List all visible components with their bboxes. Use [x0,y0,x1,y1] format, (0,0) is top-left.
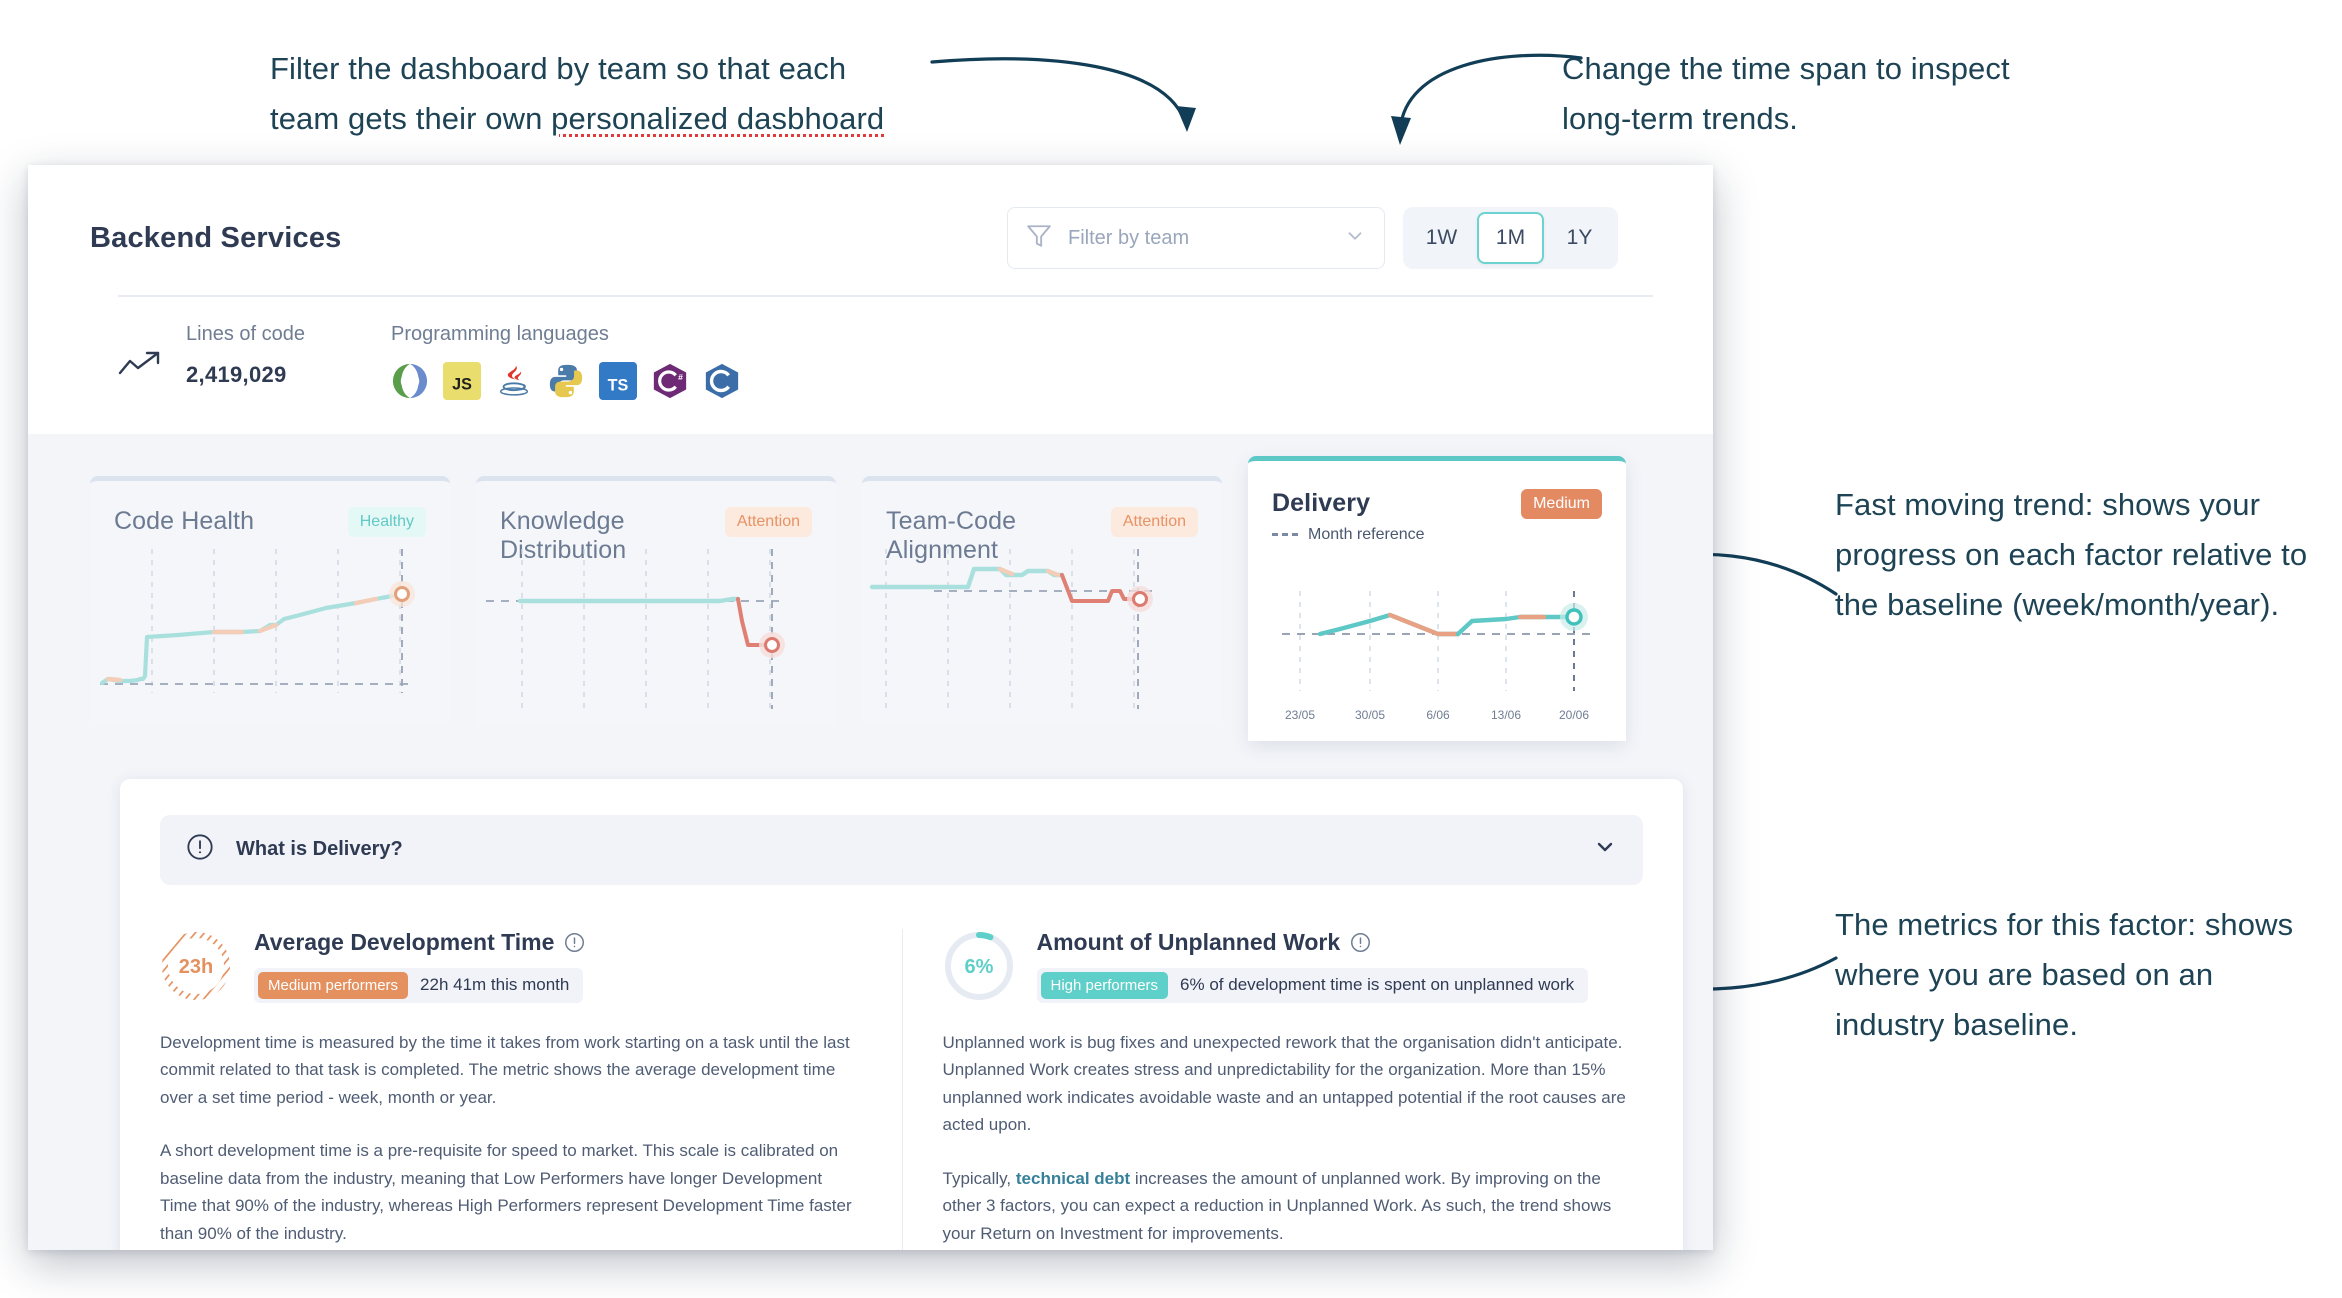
header-controls: Filter by team 1W 1M 1Y [1007,207,1653,269]
typescript-icon: TS [599,362,637,400]
arrow-to-filter-icon [930,50,1220,140]
metric-title: Average Development Time [254,929,554,956]
stat-programming-languages: Programming languages JS [391,323,741,400]
what-is-delivery-label: What is Delivery? [236,838,1571,861]
app-header: Backend Services Filter by team 1W 1 [28,165,1713,434]
app-body: Code Health Healthy [28,434,1713,1251]
chart-legend: Month reference [1272,526,1425,544]
timespan-option-1y[interactable]: 1Y [1546,212,1613,264]
lines-of-code-value: 2,419,029 [186,362,305,388]
csharp-icon: # [651,362,689,400]
metric-paragraph: A short development time is a pre-requis… [160,1137,862,1247]
performance-pill: High performers [1041,972,1169,999]
filter-icon [1026,223,1052,254]
info-circle-icon [186,833,214,866]
metric-summary-text: 6% of development time is spent on unpla… [1180,975,1574,995]
c-icon [703,362,741,400]
metric-summary-text: 22h 41m this month [420,975,569,995]
paragraph-pre-text: Typically, [943,1169,1016,1188]
x-tick-label: 6/06 [1426,708,1450,722]
metric-summary: Medium performers 22h 41m this month [254,968,583,1003]
annotation-trend: Fast moving trend: shows your progress o… [1835,480,2315,630]
status-badge: Attention [1111,507,1198,537]
svg-text:JS: JS [452,375,472,393]
stat-lines-of-code: Lines of code 2,419,029 [186,323,305,388]
filter-by-team-select[interactable]: Filter by team [1007,207,1385,269]
metric-paragraph-with-link: Typically, technical debt increases the … [943,1165,1644,1248]
x-tick-label: 20/06 [1559,708,1589,722]
unplanned-work-ring: 6% [943,930,1015,1002]
ring-value: 23h [179,956,213,978]
metric-paragraph: Development time is measured by the time… [160,1029,862,1112]
factor-title: Delivery [1272,489,1425,518]
factor-card-delivery[interactable]: Delivery Month reference Medium [1248,456,1626,741]
performance-pill: Medium performers [258,972,408,999]
x-tick-label: 23/05 [1285,708,1315,722]
status-badge: Medium [1521,489,1602,519]
x-tick-label: 30/05 [1355,708,1385,722]
filter-placeholder: Filter by team [1068,227,1328,250]
factor-sparkline-chart [476,541,836,726]
info-circle-icon[interactable] [564,932,585,953]
stats-row: Lines of code 2,419,029 Programming lang… [28,297,1713,434]
factor-title: Code Health [114,507,254,536]
factor-cards-strip: Code Health Healthy [28,434,1713,741]
ring-value: 6% [964,956,993,978]
language-icon-list: JS [391,362,741,400]
metric-title-row: Amount of Unplanned Work [1037,929,1589,956]
metric-amount-of-unplanned-work: 6% Amount of Unplanned Work [902,929,1644,1251]
page-title: Backend Services [90,222,341,255]
status-badge: Attention [725,507,812,537]
x-tick-label: 13/06 [1491,708,1521,722]
info-circle-icon[interactable] [1350,932,1371,953]
timespan-segmented-control[interactable]: 1W 1M 1Y [1403,207,1618,269]
clojure-icon [391,362,429,400]
metric-summary: High performers 6% of development time i… [1037,968,1589,1003]
python-icon [547,362,585,400]
trend-up-icon [118,349,164,384]
factor-sparkline-chart [862,541,1222,726]
arrow-to-timespan-icon [1385,50,1585,160]
java-icon [495,362,533,400]
timespan-option-1w[interactable]: 1W [1408,212,1475,264]
factor-card-knowledge-distribution[interactable]: Knowledge Distribution Attention [476,476,836,726]
annotation-filter: Filter the dashboard by team so that eac… [270,44,930,144]
svg-text:#: # [678,372,683,382]
annotation-filter-misspelled: personalized dasbhoard [551,101,884,136]
legend-dash-icon [1272,533,1298,536]
metric-title-row: Average Development Time [254,929,585,956]
javascript-icon: JS [443,362,481,400]
chevron-down-icon[interactable] [1344,225,1366,252]
factor-card-code-health[interactable]: Code Health Healthy [90,476,450,726]
chevron-down-icon[interactable] [1593,835,1617,864]
metric-average-development-time: 23h Average Development Time [160,929,902,1251]
metrics-grid: 23h Average Development Time [160,929,1643,1251]
what-is-delivery-accordion[interactable]: What is Delivery? [160,815,1643,885]
delivery-sparkline-chart: 23/05 30/05 6/06 13/06 20/06 [1248,591,1626,741]
development-time-ring: 23h [160,930,232,1002]
svg-text:TS: TS [608,376,629,394]
legend-label: Month reference [1308,526,1425,544]
annotation-timespan: Change the time span to inspect long-ter… [1562,44,2082,144]
lines-of-code-label: Lines of code [186,323,305,346]
annotation-metrics: The metrics for this factor: shows where… [1835,900,2315,1050]
programming-languages-label: Programming languages [391,323,741,346]
app-window: Backend Services Filter by team 1W 1 [28,165,1713,1250]
technical-debt-link[interactable]: technical debt [1016,1169,1130,1188]
status-badge: Healthy [348,507,426,537]
factor-sparkline-chart [90,541,450,726]
timespan-option-1m[interactable]: 1M [1477,212,1544,264]
factor-detail-panel: What is Delivery? [120,779,1683,1251]
metric-title: Amount of Unplanned Work [1037,929,1341,956]
factor-card-team-code-alignment[interactable]: Team-Code Alignment Attention [862,476,1222,726]
metric-paragraph: Unplanned work is bug fixes and unexpect… [943,1029,1644,1139]
